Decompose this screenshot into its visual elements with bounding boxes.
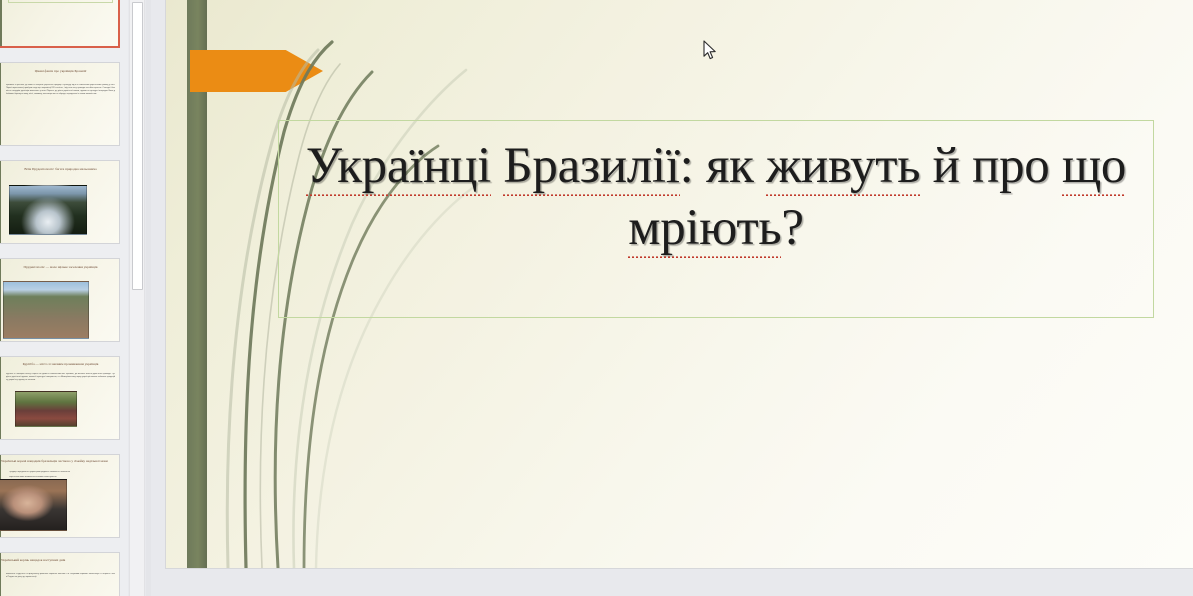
slide-thumbnail-3[interactable]: Всім Прудентополіс: багата природна маль… — [0, 160, 120, 244]
title-word-shcho: що — [1062, 138, 1126, 196]
thumbnail-pane-scrollbar[interactable] — [129, 0, 145, 596]
slide-thumbnail-5-body: Курітіба є столицею штату Парана та одни… — [6, 373, 115, 387]
title-line-1: Українці Бразилії: як живуть й про що — [295, 135, 1137, 197]
thumbnail-image-waterfall — [9, 185, 87, 235]
title-word-ukraintsi: Українці — [306, 138, 491, 196]
title-text-ypro: й про — [920, 138, 1062, 194]
slide-thumbnail-2-body: Бразилія є країною, де живе та зберігає … — [6, 84, 115, 140]
title-word-mriyut: мріють — [628, 200, 781, 258]
slide-thumbnail-4[interactable]: Прудентополіс — мале щільне заселення ук… — [0, 258, 120, 342]
mini-green-bar — [0, 357, 1, 439]
title-text-yak: : як — [680, 138, 766, 194]
thumbnail-mini-slide: Курітіба — місто зі значним проживанням … — [0, 357, 119, 439]
thumbnail-mini-slide: Цікаві факти про українців Бразилії Браз… — [0, 63, 119, 145]
thumbnail-mini-slide: Українці Бразилії: як живуть й про що мр… — [0, 0, 118, 46]
scrollbar-thumb[interactable] — [132, 2, 143, 290]
mini-green-bar — [0, 63, 1, 145]
presentation-editor-window: Українці Бразилії: як живуть й про що мр… — [0, 0, 1193, 596]
slide-thumbnail-1[interactable]: Українці Бразилії: як живуть й про що мр… — [0, 0, 120, 48]
thumbnail-mini-slide: Прудентополіс — мале щільне заселення ук… — [0, 259, 119, 341]
slide-thumbnail-2[interactable]: Цікаві факти про українців Бразилії Браз… — [0, 62, 120, 146]
orange-arrow-shape[interactable] — [190, 50, 323, 92]
mini-green-bar — [0, 161, 1, 243]
slide-thumbnail-5-title: Курітіба — місто зі значним проживанням … — [7, 362, 114, 367]
slide-thumbnail-2-title: Цікаві факти про українців Бразилії — [7, 69, 114, 74]
slide-title[interactable]: Українці Бразилії: як живуть й про що мр… — [295, 135, 1137, 259]
slide-thumbnail-3-title: Всім Прудентополіс: багата природна маль… — [7, 167, 114, 172]
title-word-zhyvut: живуть — [766, 138, 920, 196]
slide-thumbnail-6-title: Українські корені нащадків бразильців ча… — [1, 459, 114, 464]
slide-thumbnail-7-title: Український корінь нащадок наступних дні… — [1, 558, 114, 563]
slide-thumbnail-6[interactable]: Українські корені нащадків бразильців ча… — [0, 454, 120, 538]
title-space-1 — [491, 138, 503, 194]
title-line-2: мріють? — [295, 197, 1137, 259]
mini-green-bar — [0, 0, 2, 46]
slide-editing-area[interactable]: Українці Бразилії: як живуть й про що мр… — [151, 0, 1193, 596]
thumbnail-image-portrait — [0, 479, 67, 531]
thumbnail-mini-slide: Український корінь нащадок наступних дні… — [0, 553, 119, 596]
thumbnail-image-city — [3, 281, 89, 339]
slide-thumbnail-7-body: Виконала: студентка IV факультету філоло… — [6, 573, 115, 596]
slide-thumbnail-7[interactable]: Український корінь нащадок наступних дні… — [0, 552, 120, 596]
current-slide[interactable]: Українці Бразилії: як живуть й про що мр… — [166, 0, 1193, 568]
slide-thumbnail-5[interactable]: Курітіба — місто зі значним проживанням … — [0, 356, 120, 440]
mini-title-box: Українці Бразилії: як живуть й про що мр… — [8, 0, 113, 3]
thumbnail-mini-slide: Всім Прудентополіс: багата природна маль… — [0, 161, 119, 243]
title-placeholder[interactable]: Українці Бразилії: як живуть й про що мр… — [278, 120, 1154, 318]
slide-thumbnail-pane[interactable]: Українці Бразилії: як живуть й про що мр… — [0, 0, 128, 596]
thumbnail-mini-slide: Українські корені нащадків бразильців ча… — [0, 455, 119, 537]
title-word-brazylii: Бразилії — [503, 138, 679, 196]
mini-green-bar — [0, 259, 1, 341]
thumbnail-image-park — [15, 391, 77, 427]
title-question-mark: ? — [781, 200, 803, 256]
slide-thumbnail-4-title: Прудентополіс — мале щільне заселення ук… — [7, 265, 114, 270]
